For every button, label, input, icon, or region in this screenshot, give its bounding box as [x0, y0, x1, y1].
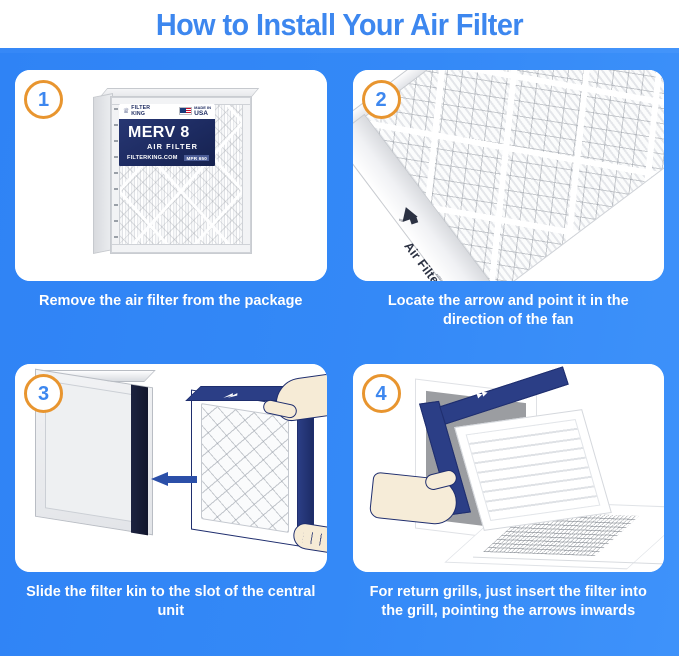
- arrow-label: IN: [398, 218, 403, 223]
- steps-grid: ♕ FILTER KING: [0, 48, 679, 656]
- step-2-caption: Locate the arrow and point it in the dir…: [353, 292, 665, 330]
- header-bar: How to Install Your Air Filter: [0, 0, 679, 48]
- merv-rating: MERV 8: [128, 125, 190, 141]
- step-4: ▶▶ 4 For return grills, just insert the …: [353, 364, 665, 648]
- website-text: FILTERKING.COM: [127, 155, 178, 161]
- brand-name: FILTER KING: [131, 106, 150, 117]
- page-title: How to Install Your Air Filter: [156, 9, 523, 40]
- label-header-strip: ♕ FILTER KING: [119, 104, 215, 119]
- direction-arrow-icon: [151, 472, 197, 486]
- slot-dark-edge: [131, 385, 148, 536]
- step-1-badge: 1: [24, 80, 63, 119]
- filter-being-inserted: ▶▶: [191, 384, 321, 542]
- step-3-caption: Slide the filter kin to the slot of the …: [15, 583, 327, 621]
- step-1: ♕ FILTER KING: [15, 70, 327, 354]
- filter3-arrow-marks: ▶▶: [221, 392, 245, 399]
- crown-icon: ♕: [123, 108, 129, 115]
- filter3-diagonal-mesh: [202, 404, 288, 532]
- label-footer-strip: FILTERKING.COM MPR 650: [127, 155, 209, 161]
- step-3-badge: 3: [24, 374, 63, 413]
- frame-right: [242, 97, 251, 253]
- made-in-usa-text: MADE IN USA: [194, 106, 211, 118]
- step-3: ▶▶ 3 Slide the fi: [15, 364, 327, 648]
- airflow-note-text: AIRFLOW: [434, 273, 461, 281]
- air-filter-product: ♕ FILTER KING: [93, 86, 259, 259]
- filter3-media: [201, 403, 289, 533]
- product-type-text: AIR FILTER: [147, 142, 198, 151]
- filter-king-logo: ♕ FILTER KING: [123, 106, 150, 117]
- made-in-usa-badge: MADE IN USA: [179, 106, 211, 118]
- step-4-caption: For return grills, just insert the filte…: [353, 583, 665, 621]
- frame-bottom: [111, 244, 251, 253]
- mpr-badge: MPR 650: [184, 155, 209, 161]
- step-2: IN Air Filter AIRFLOW 2 Locate the arrow…: [353, 70, 665, 354]
- step-3-card[interactable]: ▶▶ 3: [15, 364, 327, 572]
- usa-flag-icon: [179, 107, 192, 115]
- product-label: ♕ FILTER KING: [119, 104, 215, 166]
- step-2-badge: 2: [362, 80, 401, 119]
- grill-louvers: [465, 419, 600, 521]
- step-1-card[interactable]: ♕ FILTER KING: [15, 70, 327, 281]
- step-4-card[interactable]: ▶▶ 4: [353, 364, 665, 572]
- air-filter-text: Air Filter: [401, 239, 436, 279]
- infographic-page: How to Install Your Air Filter: [0, 0, 679, 656]
- steps-stage: ♕ FILTER KING: [0, 48, 679, 656]
- step-2-card[interactable]: IN Air Filter AIRFLOW 2: [353, 70, 665, 281]
- filter-front-face: ♕ FILTER KING: [110, 96, 252, 254]
- step-1-caption: Remove the air filter from the package: [15, 292, 327, 311]
- step-4-badge: 4: [362, 374, 401, 413]
